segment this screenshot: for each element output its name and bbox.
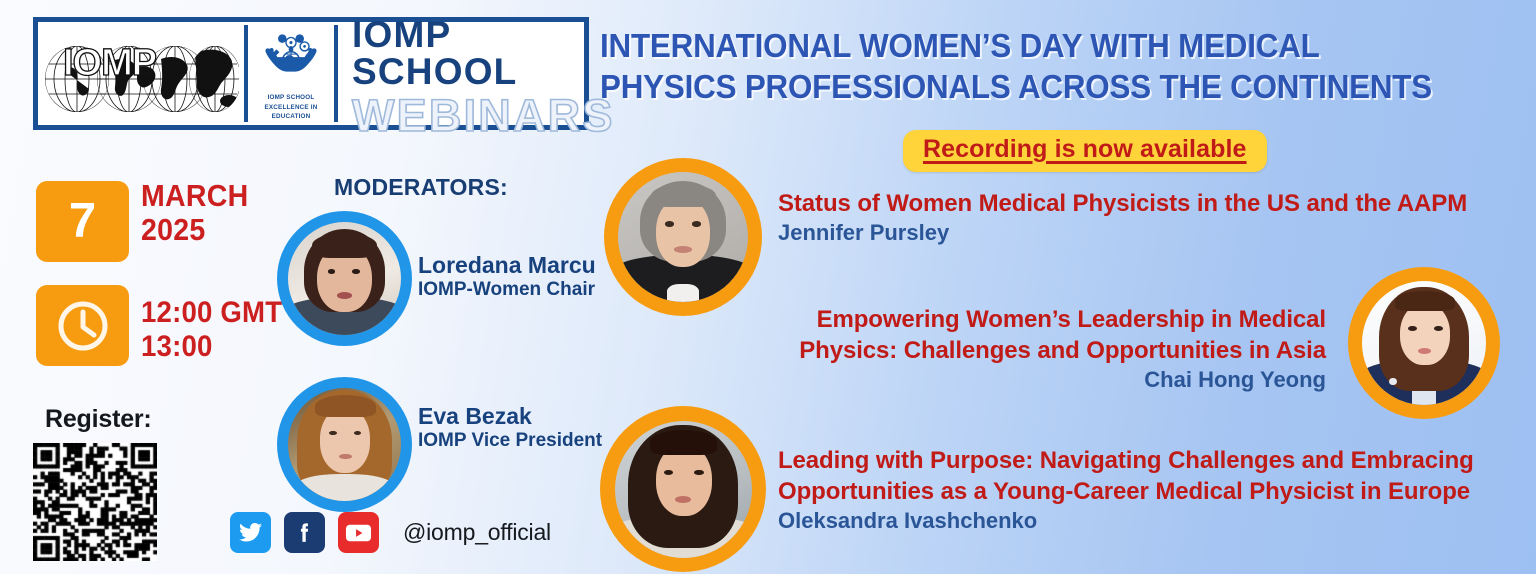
moderator-1-role: IOMP-Women Chair [418,279,596,301]
avatar-eva-bezak [277,377,412,512]
register-label: Register: [45,405,152,434]
iomp-school-emblem: IOMP SCHOOL EXCELLENCE IN EDUCATION [248,22,334,125]
event-year: 2025 [141,213,249,247]
svg-text:IOMP: IOMP [63,42,157,84]
event-time-primary: 12:00 GMT [141,296,282,330]
iomp-school-webinars-wordmark: IOMP SCHOOL WEBINARS [338,22,615,125]
webinar-banner: IOMP [0,0,1536,574]
clock-icon [54,297,112,355]
talk-3-title-line-2: Opportunities as a Young-Career Medical … [778,476,1508,507]
talk-3-speaker: Oleksandra Ivashchenko [778,507,1508,536]
talk-2-title-line-2: Physics: Challenges and Opportunities in… [760,335,1326,366]
speaker-photo [618,172,748,302]
talk-1: Status of Women Medical Physicists in th… [778,188,1508,248]
recording-available-label: Recording is now available [923,135,1247,163]
moderator-photo [288,388,401,501]
event-time-text: 12:00 GMT 13:00 [141,296,295,363]
page-title: INTERNATIONAL WOMEN’S DAY WITH MEDICAL P… [600,25,1479,108]
event-time-secondary: 13:00 [141,330,282,364]
event-month: MARCH [141,179,249,213]
moderator-1-info: Loredana Marcu IOMP-Women Chair [418,252,596,302]
facebook-f-glyph [292,520,317,545]
moderators-heading: MODERATORS: [334,174,508,201]
twitter-icon[interactable] [230,512,271,553]
headline-line-2: PHYSICS PROFESSIONALS ACROSS THE CONTINE… [600,66,1479,107]
avatar-chai-hong-yeong [1348,267,1500,419]
moderator-2-name: Eva Bezak [418,403,602,430]
talk-3-title-line-1: Leading with Purpose: Navigating Challen… [778,445,1508,476]
facebook-icon[interactable] [284,512,325,553]
globes-icon: IOMP [43,31,239,117]
moderator-2-role: IOMP Vice President [418,430,602,452]
avatar-jennifer-pursley [604,158,762,316]
talk-1-title: Status of Women Medical Physicists in th… [778,188,1508,219]
speaker-photo [1362,281,1486,405]
moderator-2-info: Eva Bezak IOMP Vice President [418,403,602,453]
avatar-loredana-marcu [277,211,412,346]
speaker-photo [615,421,752,558]
twitter-bird-glyph [238,520,263,545]
event-day: 7 [69,197,96,246]
moderator-photo [288,222,401,335]
iomp-logo-bar: IOMP [33,17,589,130]
school-caption-line1: IOMP SCHOOL [268,93,315,102]
talk-1-speaker: Jennifer Pursley [778,219,1508,248]
talk-2-title-line-1: Empowering Women’s Leadership in Medical [760,304,1326,335]
hands-holding-globe-icon [260,28,322,90]
talk-3: Leading with Purpose: Navigating Challen… [778,445,1508,536]
wordmark-webinars: WEBINARS [352,93,615,138]
talk-2-speaker: Chai Hong Yeong [760,366,1326,395]
event-date-text: MARCH 2025 [141,179,258,247]
recording-available-badge[interactable]: Recording is now available [903,130,1267,172]
youtube-icon[interactable] [338,512,379,553]
school-caption-line2: EXCELLENCE IN EDUCATION [248,103,334,121]
social-handle: @iomp_official [403,519,551,546]
talk-2: Empowering Women’s Leadership in Medical… [760,304,1326,395]
date-tile: 7 [36,181,129,262]
avatar-oleksandra-ivashchenko [600,406,766,572]
time-tile [36,285,129,366]
youtube-play-glyph [345,523,372,543]
iomp-globes-logo: IOMP [38,22,244,125]
moderator-1-name: Loredana Marcu [418,252,596,279]
wordmark-iomp-school: IOMP SCHOOL [352,16,615,90]
social-links: @iomp_official [230,512,551,553]
headline-line-1: INTERNATIONAL WOMEN’S DAY WITH MEDICAL [600,25,1479,66]
qr-code-icon[interactable] [33,443,157,561]
